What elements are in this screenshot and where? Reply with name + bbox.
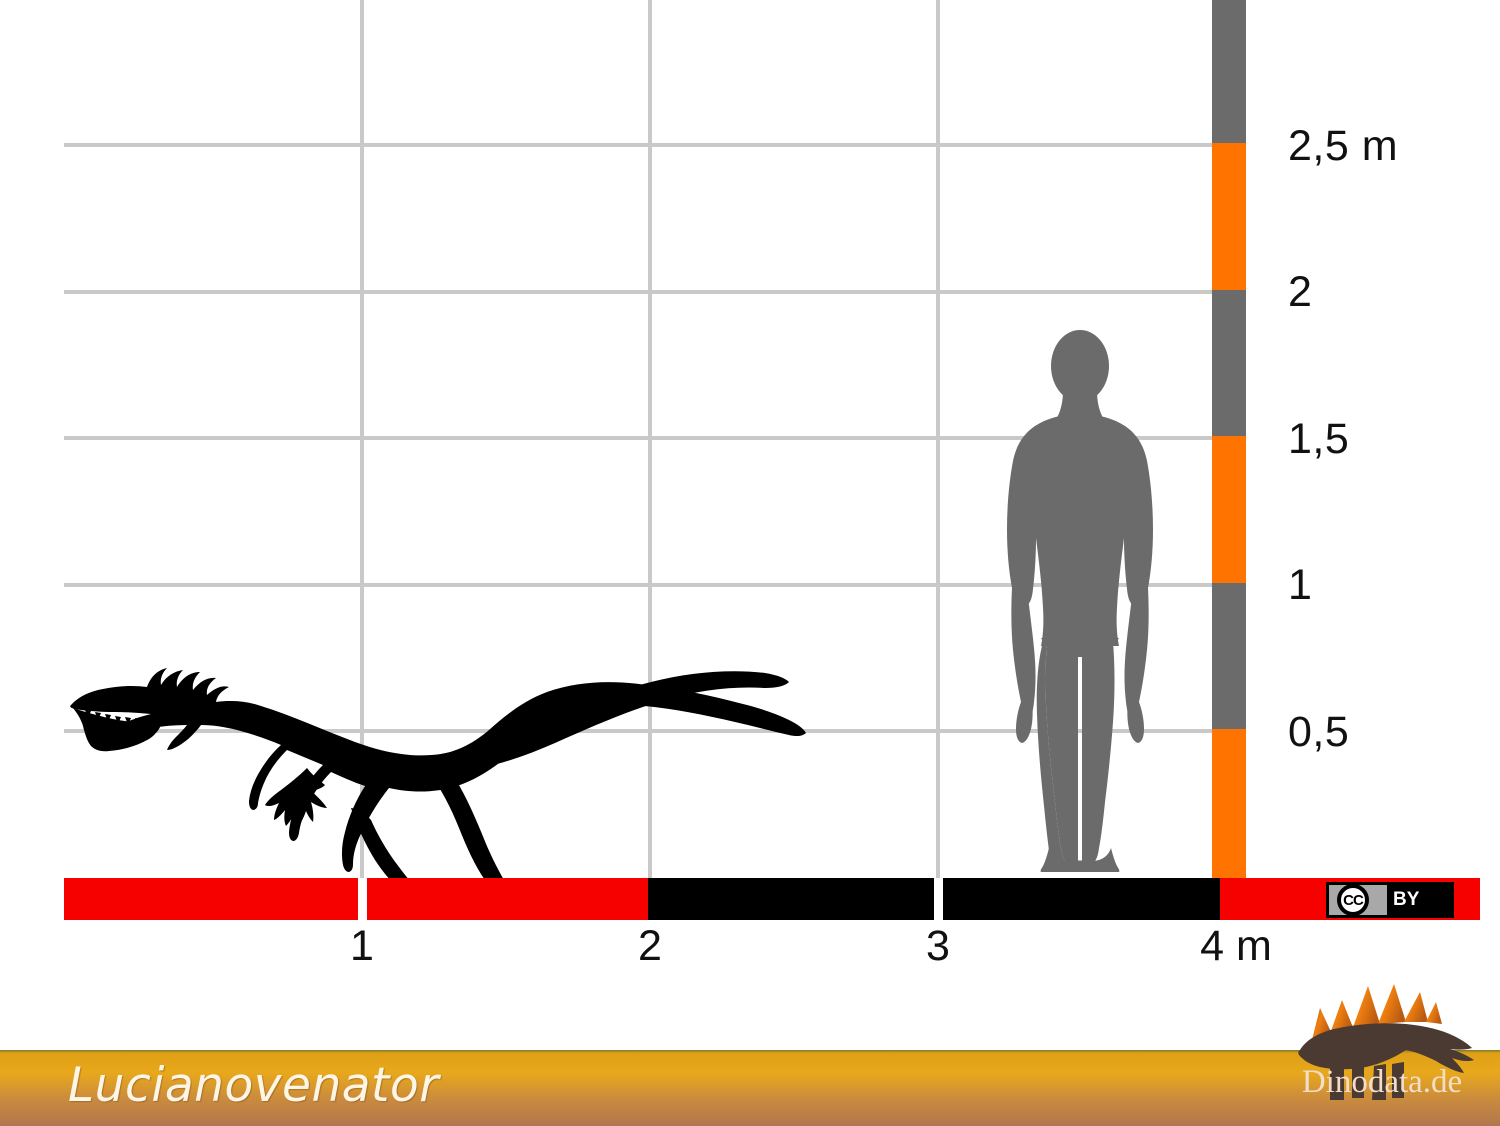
ruler-label-4m: 4 m [1200, 925, 1272, 968]
ruler-tick-3m [934, 878, 943, 920]
creative-commons-by-badge[interactable]: CC BY [1326, 882, 1454, 918]
dinosaur-silhouette [55, 630, 815, 890]
gridline-horizontal-2m [64, 290, 1212, 294]
by-icon: BY [1387, 885, 1451, 915]
cc-icon: CC [1329, 885, 1387, 915]
ruler-tick-1m [358, 878, 367, 920]
vscale-segment-gray-15to2 [1212, 290, 1246, 436]
dinodata-logo[interactable]: Dinodata.de [1276, 978, 1488, 1126]
vscale-segment-orange-0to05 [1212, 729, 1246, 878]
size-comparison-chart: 2,5 m 2 1,5 1 0,5 1 2 3 4 m CC BY Lucian… [0, 0, 1500, 1126]
vscale-segment-orange-1to15 [1212, 436, 1246, 583]
gridline-vertical-3m [936, 0, 940, 878]
page-title: Lucianovenator [68, 1057, 439, 1116]
vscale-label-0.5m: 0,5 [1288, 711, 1349, 754]
human-silhouette [985, 330, 1175, 880]
by-label: BY [1393, 890, 1419, 909]
ruler-label-1m: 1 [350, 925, 374, 968]
vscale-segment-gray-05to1 [1212, 583, 1246, 729]
gridline-horizontal-2.5m [64, 143, 1212, 147]
ruler-label-2m: 2 [638, 925, 662, 968]
vscale-segment-gray-top [1212, 0, 1246, 143]
cc-label: CC [1343, 893, 1363, 908]
horizontal-scale-ruler [64, 878, 1480, 920]
ruler-label-3m: 3 [926, 925, 950, 968]
vertical-scale-bar [1212, 0, 1246, 878]
ruler-segment-red-0to2 [64, 878, 648, 920]
cc-circle-icon: CC [1337, 884, 1369, 916]
vscale-label-2m: 2 [1288, 271, 1312, 314]
vscale-label-1.5m: 1,5 [1288, 418, 1349, 461]
vscale-label-2.5m: 2,5 m [1288, 125, 1398, 168]
vscale-segment-orange-2to25 [1212, 143, 1246, 290]
watermark-text: Dinodata.de [1276, 1066, 1488, 1099]
vscale-label-1m: 1 [1288, 564, 1312, 607]
